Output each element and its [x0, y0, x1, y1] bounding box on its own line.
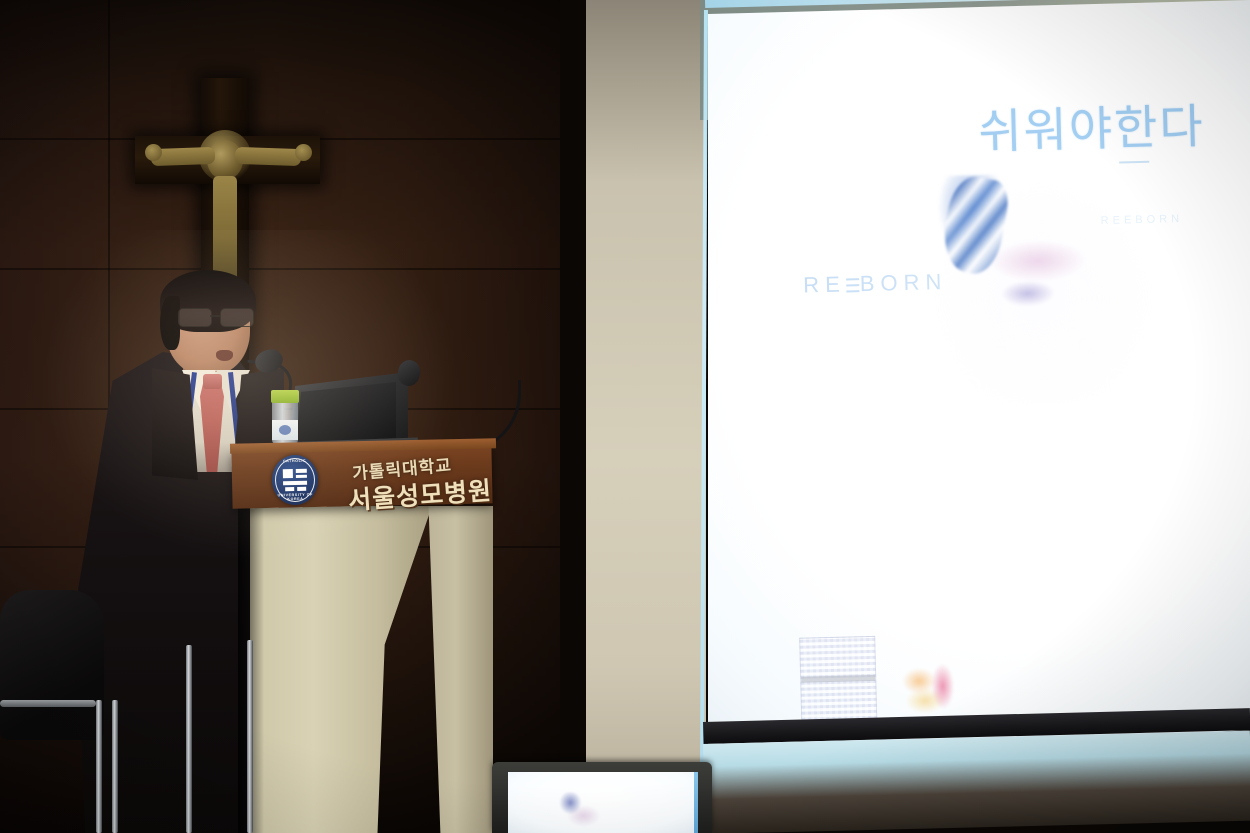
confidence-monitor-edge	[694, 772, 698, 833]
stand-pole	[186, 645, 192, 833]
wall-seam	[108, 0, 110, 420]
podium-laptop-screen[interactable]	[296, 382, 396, 444]
emblem-top-text: CATHOLIC	[272, 459, 318, 464]
wall-below-screen	[703, 731, 1250, 833]
water-bottle-label	[272, 420, 298, 440]
projection-screen	[703, 0, 1250, 760]
chair-armrest	[0, 700, 96, 707]
glasses-lens-left	[178, 308, 212, 327]
screen-surface	[703, 0, 1250, 760]
speaker-hair-side	[160, 296, 180, 350]
corpus-arm-right	[235, 147, 302, 166]
necktie-knot	[203, 374, 222, 389]
stand-pole	[112, 700, 118, 833]
stand-pole	[247, 640, 253, 833]
speaker-mouth	[216, 350, 233, 361]
confidence-monitor-content	[556, 792, 616, 833]
chair	[0, 590, 104, 740]
emblem-bottom-text: UNIVERSITY OF KOREA	[272, 493, 318, 502]
lecture-hall-photo: 쉬워야한다 REEBORN REBORN CATHOLIC	[0, 0, 1250, 833]
emblem-mark	[283, 469, 307, 491]
university-emblem-icon: CATHOLIC UNIVERSITY OF KOREA	[271, 455, 318, 506]
glasses-bridge	[210, 315, 220, 317]
stand-pole	[96, 700, 102, 833]
glasses-icon	[178, 308, 260, 326]
corpus-hand-right	[295, 144, 312, 161]
glasses-lens-right	[220, 308, 254, 327]
corpus-hand-left	[145, 144, 162, 161]
water-bottle-cap	[271, 390, 299, 403]
beige-wall-panel	[586, 0, 706, 833]
